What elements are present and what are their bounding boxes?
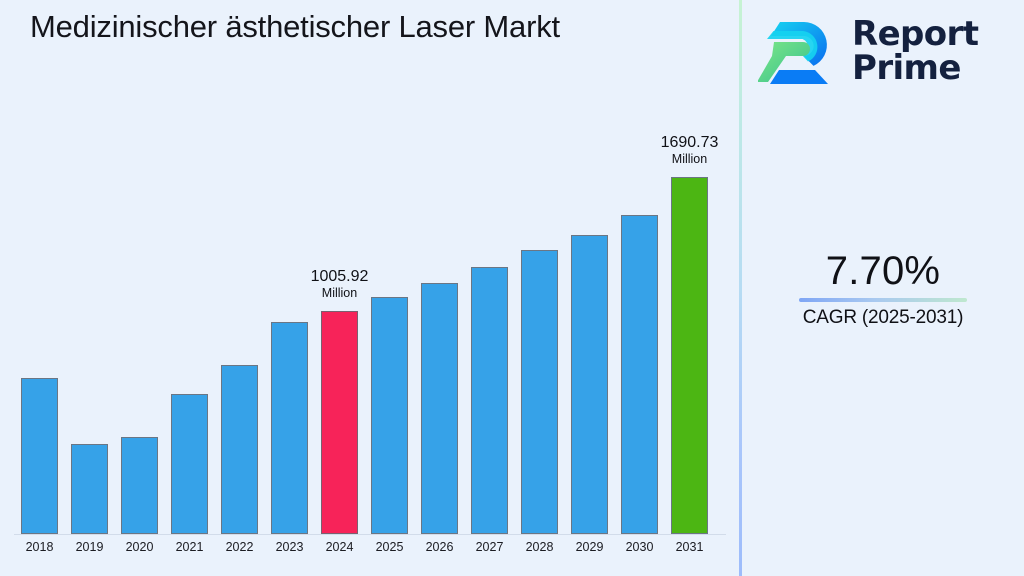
x-axis-label-2031: 2031 bbox=[660, 540, 720, 554]
bar-2023[interactable] bbox=[271, 322, 308, 534]
cagr-block: 7.70% CAGR (2025-2031) bbox=[742, 250, 1024, 329]
bar-2031[interactable] bbox=[671, 177, 708, 534]
bar-2025[interactable] bbox=[371, 297, 408, 534]
bar-2021[interactable] bbox=[171, 394, 208, 534]
chart-infographic: Medizinischer ästhetischer Laser Markt 2… bbox=[0, 0, 1024, 576]
data-label-2031: 1690.73Million bbox=[630, 134, 750, 166]
data-label-2024: 1005.92Million bbox=[280, 268, 400, 300]
data-label-unit-2031: Million bbox=[630, 152, 750, 166]
bar-2029[interactable] bbox=[571, 235, 608, 534]
chart-panel: Medizinischer ästhetischer Laser Markt 2… bbox=[0, 0, 740, 576]
x-axis-line bbox=[14, 534, 726, 535]
cagr-value: 7.70% bbox=[742, 250, 1024, 292]
bar-2028[interactable] bbox=[521, 250, 558, 534]
bar-2019[interactable] bbox=[71, 444, 108, 534]
cagr-divider-rule bbox=[799, 298, 967, 302]
bar-2026[interactable] bbox=[421, 283, 458, 534]
bar-2022[interactable] bbox=[221, 365, 258, 534]
report-prime-r-monogram-icon bbox=[758, 16, 838, 88]
brand-panel: Report Prime 7.70% CAGR (2025-2031) bbox=[742, 0, 1024, 576]
data-label-value-2024: 1005.92 bbox=[280, 268, 400, 286]
cagr-caption: CAGR (2025-2031) bbox=[742, 307, 1024, 329]
brand-name-line2: Prime bbox=[852, 48, 961, 88]
report-prime-logo[interactable]: Report Prime bbox=[758, 12, 1010, 92]
brand-name: Report Prime bbox=[852, 18, 978, 85]
bar-2030[interactable] bbox=[621, 215, 658, 534]
data-label-value-2031: 1690.73 bbox=[630, 134, 750, 152]
bar-2018[interactable] bbox=[21, 378, 58, 534]
bar-2024[interactable] bbox=[321, 311, 358, 534]
bar-2020[interactable] bbox=[121, 437, 158, 534]
bar-chart-plot-area: 20182019202020212022202320241005.92Milli… bbox=[0, 0, 740, 576]
bar-2027[interactable] bbox=[471, 267, 508, 534]
